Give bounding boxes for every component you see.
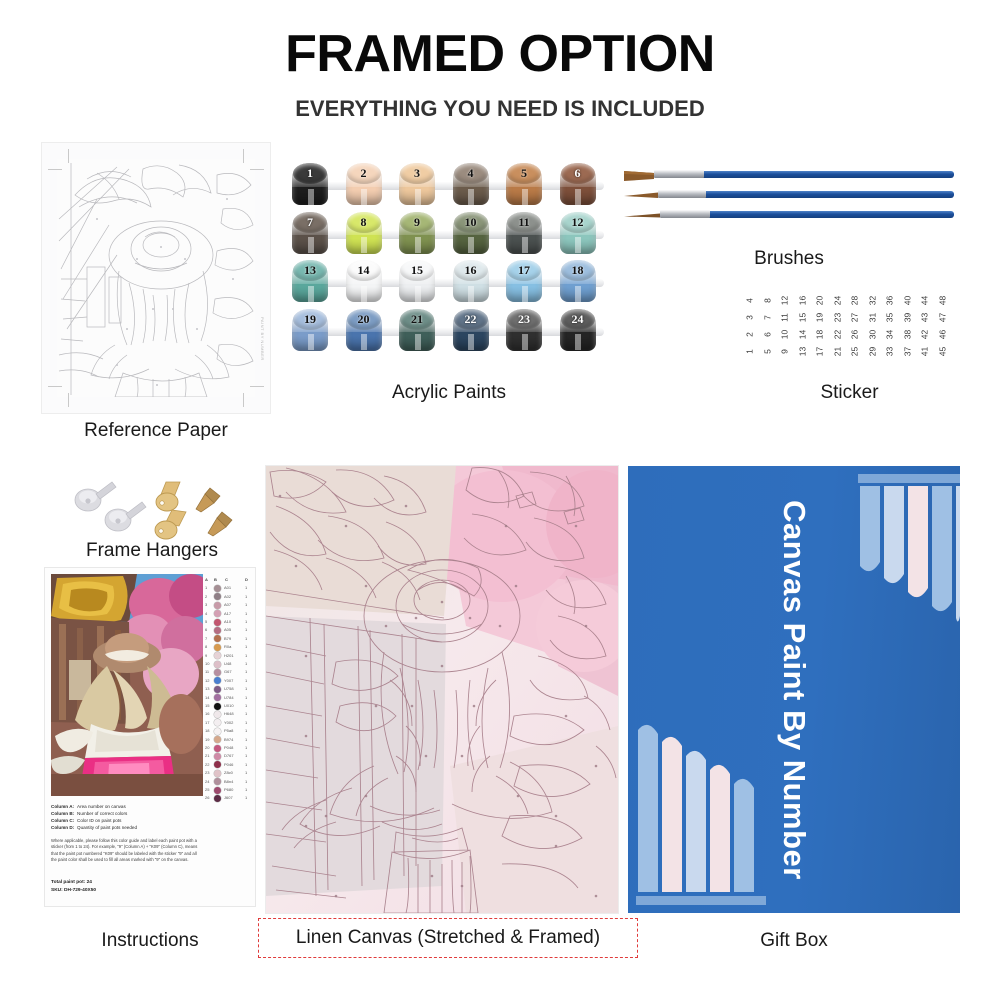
legend-row: 19B9741 bbox=[205, 736, 251, 744]
legend-quantity: 1 bbox=[245, 711, 247, 716]
legend-color-swatch bbox=[214, 795, 221, 802]
paint-pot-number: 15 bbox=[395, 260, 439, 280]
paint-pot-13[interactable]: 13 bbox=[288, 260, 332, 304]
sticker-number-38[interactable]: 38 bbox=[899, 327, 916, 343]
crop-mark-bl-h bbox=[48, 386, 62, 387]
legend-area-number: 18 bbox=[205, 728, 209, 733]
legend-area-number: 26 bbox=[205, 795, 209, 800]
legend-color-swatch bbox=[214, 610, 221, 617]
reference-paper-lineart bbox=[57, 159, 255, 397]
sticker-number-5[interactable]: 5 bbox=[759, 344, 776, 360]
brush-ferrule bbox=[658, 190, 706, 198]
sticker-number-9[interactable]: 9 bbox=[777, 344, 794, 360]
paint-pot-row: 123456 bbox=[288, 163, 610, 207]
legend-color-swatch bbox=[214, 686, 221, 693]
legend-row: 8R0a1 bbox=[205, 643, 251, 651]
linen-canvas-item bbox=[266, 466, 618, 913]
sticker-number-24[interactable]: 24 bbox=[829, 293, 846, 309]
legend-row: 9H2011 bbox=[205, 652, 251, 660]
screw-1 bbox=[196, 488, 220, 512]
legend-color-swatch bbox=[214, 719, 221, 726]
legend-row: 10U481 bbox=[205, 660, 251, 668]
paint-pot-number: 17 bbox=[502, 260, 546, 280]
brush-handle bbox=[704, 191, 954, 198]
legend-color-id: G67 bbox=[224, 669, 232, 674]
sticker-number-16[interactable]: 16 bbox=[794, 293, 811, 309]
instructions-sku: SKU: DH-729-40X50 bbox=[51, 888, 96, 893]
legend-color-swatch bbox=[214, 787, 221, 794]
column-d-label: Column D: bbox=[51, 825, 77, 830]
frame-hangers-svg bbox=[62, 470, 242, 542]
legend-color-id: J607 bbox=[224, 795, 233, 800]
paint-pot-21[interactable]: 21 bbox=[395, 309, 439, 353]
legend-quantity: 1 bbox=[245, 795, 247, 800]
frame-hangers-item bbox=[62, 470, 242, 542]
legend-area-number: 22 bbox=[205, 762, 209, 767]
legend-quantity: 1 bbox=[245, 585, 247, 590]
page-title: FRAMED OPTION bbox=[0, 28, 1000, 80]
legend-color-swatch bbox=[214, 593, 221, 600]
legend-quantity: 1 bbox=[245, 762, 247, 767]
legend-color-swatch bbox=[214, 652, 221, 659]
legend-quantity: 1 bbox=[245, 636, 247, 641]
sticker-number-22[interactable]: 22 bbox=[829, 327, 846, 343]
legend-quantity: 1 bbox=[245, 770, 247, 775]
brush-round-fine bbox=[624, 208, 954, 220]
sticker-number-44[interactable]: 44 bbox=[917, 293, 934, 309]
sticker-number-48[interactable]: 48 bbox=[934, 293, 951, 309]
legend-area-number: 17 bbox=[205, 720, 209, 725]
sticker-number-1[interactable]: 1 bbox=[742, 344, 759, 360]
legend-area-number: 2 bbox=[205, 594, 207, 599]
wall-anchor-1 bbox=[75, 482, 116, 511]
legend-color-swatch bbox=[214, 745, 221, 752]
legend-color-id: Y007 bbox=[224, 678, 233, 683]
paint-pot-number: 16 bbox=[449, 260, 493, 280]
sticker-number-17[interactable]: 17 bbox=[812, 344, 829, 360]
legend-color-id: R0a bbox=[224, 644, 231, 649]
legend-area-number: 13 bbox=[205, 686, 209, 691]
legend-col-a: A bbox=[205, 577, 208, 582]
column-c-desc: Color ID on paint pots bbox=[77, 818, 121, 823]
legend-quantity: 1 bbox=[245, 594, 247, 599]
legend-area-number: 16 bbox=[205, 711, 209, 716]
crop-mark-tr-h bbox=[250, 169, 264, 170]
legend-color-swatch bbox=[214, 694, 221, 701]
brush-bristles-round bbox=[624, 190, 660, 202]
sticker-number-3[interactable]: 3 bbox=[742, 310, 759, 326]
caption-brushes: Brushes bbox=[624, 248, 954, 270]
legend-area-number: 3 bbox=[205, 602, 207, 607]
paint-pot-number: 10 bbox=[449, 212, 493, 232]
legend-area-number: 8 bbox=[205, 644, 207, 649]
paint-pot-18[interactable]: 18 bbox=[556, 260, 600, 304]
paint-pot-5[interactable]: 5 bbox=[502, 163, 546, 207]
legend-col-b: B bbox=[214, 577, 217, 582]
legend-area-number: 21 bbox=[205, 753, 209, 758]
sticker-column: 45464748 bbox=[935, 292, 951, 362]
legend-quantity: 1 bbox=[245, 653, 247, 658]
legend-row: 21D7671 bbox=[205, 752, 251, 760]
sticker-number-8[interactable]: 8 bbox=[759, 293, 776, 309]
legend-row: 1A011 bbox=[205, 584, 251, 592]
sticker-number-18[interactable]: 18 bbox=[812, 327, 829, 343]
legend-row: 25P6801 bbox=[205, 786, 251, 794]
legend-row: 16H6481 bbox=[205, 710, 251, 718]
paint-pot-number: 23 bbox=[502, 309, 546, 329]
paint-pot-6[interactable]: 6 bbox=[556, 163, 600, 207]
paint-pot-24[interactable]: 24 bbox=[556, 309, 600, 353]
paint-pot-number: 22 bbox=[449, 309, 493, 329]
brush-ferrule bbox=[660, 210, 710, 218]
paint-pot-number: 20 bbox=[342, 309, 386, 329]
legend-quantity: 1 bbox=[245, 787, 247, 792]
sticker-column: 5678 bbox=[760, 292, 776, 362]
legend-color-swatch bbox=[214, 753, 221, 760]
sticker-number-12[interactable]: 12 bbox=[777, 293, 794, 309]
legend-color-id: A17 bbox=[224, 611, 231, 616]
sticker-number-26[interactable]: 26 bbox=[847, 327, 864, 343]
legend-quantity: 1 bbox=[245, 619, 247, 624]
legend-color-id: A07 bbox=[224, 602, 231, 607]
paint-pot-number: 13 bbox=[288, 260, 332, 280]
instructions-column-a: Column A:Area number on canvas bbox=[51, 804, 126, 809]
paint-pot-3[interactable]: 3 bbox=[395, 163, 439, 207]
sticker-number-41[interactable]: 41 bbox=[917, 344, 934, 360]
crop-mark-bl-v bbox=[68, 393, 69, 407]
reference-paper-watermark: PAINT BY NUMBER bbox=[260, 317, 265, 361]
brush-handle bbox=[708, 211, 954, 218]
legend-row: 13U7581 bbox=[205, 685, 251, 693]
paint-pot-number: 24 bbox=[556, 309, 600, 329]
legend-area-number: 24 bbox=[205, 779, 209, 784]
reference-lineart-svg bbox=[57, 159, 255, 397]
legend-color-id: Y002 bbox=[224, 720, 233, 725]
brush-round-medium bbox=[624, 188, 954, 200]
instructions-column-d: Column D:Quantity of paint pots needed bbox=[51, 825, 137, 830]
paint-pot-row: 131415161718 bbox=[288, 260, 610, 304]
legend-row: 23Z8c01 bbox=[205, 769, 251, 777]
legend-quantity: 1 bbox=[245, 686, 247, 691]
legend-color-id: B79 bbox=[224, 636, 231, 641]
caption-sticker: Sticker bbox=[742, 382, 957, 404]
sticker-column: 21222324 bbox=[830, 292, 846, 362]
legend-color-swatch bbox=[214, 585, 221, 592]
legend-quantity: 1 bbox=[245, 669, 247, 674]
legend-row: 24B8n41 bbox=[205, 778, 251, 786]
paint-pot-1[interactable]: 1 bbox=[288, 163, 332, 207]
legend-color-id: U758 bbox=[224, 686, 234, 691]
legend-quantity: 1 bbox=[245, 678, 247, 683]
sticker-number-40[interactable]: 40 bbox=[899, 293, 916, 309]
legend-color-swatch bbox=[214, 703, 221, 710]
legend-row: 11G671 bbox=[205, 668, 251, 676]
sticker-number-11[interactable]: 11 bbox=[777, 310, 794, 326]
legend-area-number: 1 bbox=[205, 585, 207, 590]
sticker-number-47[interactable]: 47 bbox=[934, 310, 951, 326]
legend-area-number: 7 bbox=[205, 636, 207, 641]
paint-pot-row: 192021222324 bbox=[288, 309, 610, 353]
legend-quantity: 1 bbox=[245, 602, 247, 607]
paint-pot-number: 14 bbox=[342, 260, 386, 280]
sticker-number-4[interactable]: 4 bbox=[742, 293, 759, 309]
crop-mark-tl-v bbox=[68, 149, 69, 163]
paint-pot-number: 1 bbox=[288, 163, 332, 183]
paint-pot-number: 6 bbox=[556, 163, 600, 183]
sticker-number-35[interactable]: 35 bbox=[882, 310, 899, 326]
legend-quantity: 1 bbox=[245, 695, 247, 700]
legend-row: 12Y0071 bbox=[205, 677, 251, 685]
paint-pot-number: 7 bbox=[288, 212, 332, 232]
paint-pot-23[interactable]: 23 bbox=[502, 309, 546, 353]
legend-quantity: 1 bbox=[245, 611, 247, 616]
legend-color-swatch bbox=[214, 677, 221, 684]
legend-color-swatch bbox=[214, 602, 221, 609]
paint-pot-number: 18 bbox=[556, 260, 600, 280]
brushes-item bbox=[624, 168, 954, 248]
instructions-column-b: Column B:Number of correct colors bbox=[51, 811, 127, 816]
legend-color-id: Z8c0 bbox=[224, 770, 233, 775]
legend-color-swatch bbox=[214, 711, 221, 718]
legend-area-number: 15 bbox=[205, 703, 209, 708]
sticker-number-36[interactable]: 36 bbox=[882, 293, 899, 309]
paint-pot-2[interactable]: 2 bbox=[342, 163, 386, 207]
legend-area-number: 6 bbox=[205, 627, 207, 632]
paint-pot-11[interactable]: 11 bbox=[502, 212, 546, 256]
legend-area-number: 12 bbox=[205, 678, 209, 683]
legend-color-id: U010 bbox=[224, 703, 234, 708]
brush-ferrule bbox=[654, 170, 704, 178]
legend-color-id: B8n4 bbox=[224, 779, 233, 784]
paint-pot-22[interactable]: 22 bbox=[449, 309, 493, 353]
sticker-number-31[interactable]: 31 bbox=[864, 310, 881, 326]
legend-header-row: ABCD bbox=[205, 576, 251, 584]
brush-bristles-flat bbox=[624, 170, 656, 182]
sticker-item: 1234567891011121314151617181920212223242… bbox=[742, 292, 957, 362]
sticker-number-30[interactable]: 30 bbox=[864, 327, 881, 343]
legend-color-swatch bbox=[214, 761, 221, 768]
paint-pot-8[interactable]: 8 bbox=[342, 212, 386, 256]
paint-pot-number: 21 bbox=[395, 309, 439, 329]
caption-linen-canvas-text: Linen Canvas (Stretched & Framed) bbox=[259, 919, 637, 956]
legend-row: 15U0101 bbox=[205, 702, 251, 710]
crop-mark-tl-h bbox=[48, 169, 62, 170]
caption-gift-box: Gift Box bbox=[628, 930, 960, 952]
legend-row: 18P5a81 bbox=[205, 727, 251, 735]
legend-row: 3A071 bbox=[205, 601, 251, 609]
legend-color-swatch bbox=[214, 644, 221, 651]
legend-area-number: 10 bbox=[205, 661, 209, 666]
sticker-number-28[interactable]: 28 bbox=[847, 293, 864, 309]
column-a-desc: Area number on canvas bbox=[77, 804, 126, 809]
sticker-number-2[interactable]: 2 bbox=[742, 327, 759, 343]
sticker-number-14[interactable]: 14 bbox=[794, 327, 811, 343]
paint-pot-12[interactable]: 12 bbox=[556, 212, 600, 256]
paint-pot-row: 789101112 bbox=[288, 212, 610, 256]
d-ring-hanger-1 bbox=[156, 482, 180, 511]
legend-row: 6A051 bbox=[205, 626, 251, 634]
sticker-number-23[interactable]: 23 bbox=[829, 310, 846, 326]
sticker-column: 41424344 bbox=[917, 292, 933, 362]
sticker-column: 37383940 bbox=[900, 292, 916, 362]
legend-row: 14U7841 bbox=[205, 694, 251, 702]
sticker-number-25[interactable]: 25 bbox=[847, 344, 864, 360]
legend-area-number: 20 bbox=[205, 745, 209, 750]
acrylic-paints-item: 123456789101112131415161718192021222324 bbox=[288, 163, 610, 359]
legend-row: 26J6071 bbox=[205, 794, 251, 802]
instructions-item: ABCD1A0112A0213A0714A1715A1016A0517B7918… bbox=[45, 568, 255, 906]
instructions-column-c: Column C:Color ID on paint pots bbox=[51, 818, 121, 823]
sticker-column: 33343536 bbox=[882, 292, 898, 362]
paint-pot-number: 8 bbox=[342, 212, 386, 232]
sticker-number-33[interactable]: 33 bbox=[882, 344, 899, 360]
instructions-preview-svg bbox=[51, 574, 203, 796]
legend-color-id: P5a8 bbox=[224, 728, 233, 733]
reference-paper-item: PAINT BY NUMBER bbox=[42, 143, 270, 413]
legend-color-id: H648 bbox=[224, 711, 234, 716]
sticker-number-19[interactable]: 19 bbox=[812, 310, 829, 326]
sticker-number-34[interactable]: 34 bbox=[882, 327, 899, 343]
legend-color-id: P048 bbox=[224, 745, 233, 750]
sticker-number-15[interactable]: 15 bbox=[794, 310, 811, 326]
legend-area-number: 5 bbox=[205, 619, 207, 624]
legend-color-id: D767 bbox=[224, 753, 234, 758]
caption-frame-hangers: Frame Hangers bbox=[52, 540, 252, 562]
sticker-column: 13141516 bbox=[795, 292, 811, 362]
sticker-column: 29303132 bbox=[865, 292, 881, 362]
brush-flat bbox=[624, 168, 954, 180]
legend-color-id: A10 bbox=[224, 619, 231, 624]
legend-row: 17Y0021 bbox=[205, 719, 251, 727]
legend-row: 5A101 bbox=[205, 618, 251, 626]
legend-color-id: U48 bbox=[224, 661, 231, 666]
column-a-label: Column A: bbox=[51, 804, 77, 809]
paint-pot-4[interactable]: 4 bbox=[449, 163, 493, 207]
legend-col-c: C bbox=[225, 577, 228, 582]
paint-pot-number: 2 bbox=[342, 163, 386, 183]
instructions-color-legend: ABCD1A0112A0213A0714A1715A1016A0517B7918… bbox=[205, 576, 251, 798]
caption-linen-canvas: Linen Canvas (Stretched & Framed) bbox=[258, 918, 638, 958]
legend-color-id: A02 bbox=[224, 594, 231, 599]
legend-quantity: 1 bbox=[245, 627, 247, 632]
column-b-desc: Number of correct colors bbox=[77, 811, 127, 816]
sticker-number-6[interactable]: 6 bbox=[759, 327, 776, 343]
sticker-number-10[interactable]: 10 bbox=[777, 327, 794, 343]
legend-color-swatch bbox=[214, 770, 221, 777]
paint-pot-16[interactable]: 16 bbox=[449, 260, 493, 304]
paint-pot-10[interactable]: 10 bbox=[449, 212, 493, 256]
legend-color-swatch bbox=[214, 627, 221, 634]
paint-pot-7[interactable]: 7 bbox=[288, 212, 332, 256]
legend-area-number: 25 bbox=[205, 787, 209, 792]
sticker-number-20[interactable]: 20 bbox=[812, 293, 829, 309]
gift-box-label: Canvas Paint By Number bbox=[776, 500, 812, 880]
crop-mark-br-h bbox=[250, 386, 264, 387]
paint-pot-20[interactable]: 20 bbox=[342, 309, 386, 353]
paint-pot-17[interactable]: 17 bbox=[502, 260, 546, 304]
legend-quantity: 1 bbox=[245, 745, 247, 750]
legend-color-id: P680 bbox=[224, 787, 233, 792]
caption-instructions: Instructions bbox=[45, 930, 255, 952]
sticker-number-37[interactable]: 37 bbox=[899, 344, 916, 360]
paint-pot-number: 4 bbox=[449, 163, 493, 183]
crop-mark-br-v bbox=[243, 393, 244, 407]
legend-color-id: H201 bbox=[224, 653, 234, 658]
legend-quantity: 1 bbox=[245, 661, 247, 666]
sticker-number-43[interactable]: 43 bbox=[917, 310, 934, 326]
legend-area-number: 11 bbox=[205, 669, 209, 674]
legend-area-number: 9 bbox=[205, 653, 207, 658]
paint-pot-19[interactable]: 19 bbox=[288, 309, 332, 353]
sticker-number-46[interactable]: 46 bbox=[934, 327, 951, 343]
column-c-label: Column C: bbox=[51, 818, 77, 823]
sticker-column: 1234 bbox=[742, 292, 758, 362]
column-d-desc: Quantity of paint pots needed bbox=[77, 825, 137, 830]
legend-color-id: P046 bbox=[224, 762, 233, 767]
sticker-number-21[interactable]: 21 bbox=[829, 344, 846, 360]
legend-color-swatch bbox=[214, 669, 221, 676]
paint-pot-9[interactable]: 9 bbox=[395, 212, 439, 256]
paint-pot-number: 5 bbox=[502, 163, 546, 183]
legend-color-swatch bbox=[214, 661, 221, 668]
legend-color-swatch bbox=[214, 635, 221, 642]
legend-row: 2A021 bbox=[205, 593, 251, 601]
screw-2 bbox=[208, 512, 232, 536]
sticker-number-39[interactable]: 39 bbox=[899, 310, 916, 326]
legend-color-id: U784 bbox=[224, 695, 234, 700]
instructions-note: Where applicable, please follow this col… bbox=[51, 838, 201, 864]
linen-canvas-artwork bbox=[266, 466, 618, 913]
legend-row: 22P0461 bbox=[205, 761, 251, 769]
legend-quantity: 1 bbox=[245, 720, 247, 725]
legend-quantity: 1 bbox=[245, 737, 247, 742]
sticker-number-7[interactable]: 7 bbox=[759, 310, 776, 326]
legend-quantity: 1 bbox=[245, 703, 247, 708]
sticker-number-42[interactable]: 42 bbox=[917, 327, 934, 343]
page-subtitle: EVERYTHING YOU NEED IS INCLUDED bbox=[0, 96, 1000, 122]
instructions-preview-artwork bbox=[51, 574, 203, 796]
legend-quantity: 1 bbox=[245, 779, 247, 784]
sticker-number-29[interactable]: 29 bbox=[864, 344, 881, 360]
legend-row: 20P0481 bbox=[205, 744, 251, 752]
caption-acrylic-paints: Acrylic Paints bbox=[288, 382, 610, 404]
d-ring-hanger-2 bbox=[155, 510, 186, 539]
instructions-total-paint-pot: Total paint pot: 24 bbox=[51, 880, 92, 885]
sticker-number-27[interactable]: 27 bbox=[847, 310, 864, 326]
paint-pot-number: 9 bbox=[395, 212, 439, 232]
brush-bristles-fine bbox=[624, 210, 662, 222]
paint-pot-15[interactable]: 15 bbox=[395, 260, 439, 304]
legend-color-id: B974 bbox=[224, 737, 233, 742]
legend-col-d: D bbox=[245, 577, 248, 582]
legend-area-number: 4 bbox=[205, 611, 207, 616]
legend-color-swatch bbox=[214, 728, 221, 735]
legend-area-number: 23 bbox=[205, 770, 209, 775]
sticker-number-32[interactable]: 32 bbox=[864, 293, 881, 309]
sticker-number-45[interactable]: 45 bbox=[934, 344, 951, 360]
legend-quantity: 1 bbox=[245, 644, 247, 649]
paint-pot-number: 11 bbox=[502, 212, 546, 232]
sticker-number-13[interactable]: 13 bbox=[794, 344, 811, 360]
legend-color-id: A05 bbox=[224, 627, 231, 632]
paint-pot-number: 19 bbox=[288, 309, 332, 329]
paint-pot-14[interactable]: 14 bbox=[342, 260, 386, 304]
sticker-column: 9101112 bbox=[777, 292, 793, 362]
legend-row: 7B791 bbox=[205, 635, 251, 643]
legend-area-number: 19 bbox=[205, 737, 209, 742]
sticker-column: 25262728 bbox=[847, 292, 863, 362]
sticker-column: 17181920 bbox=[812, 292, 828, 362]
